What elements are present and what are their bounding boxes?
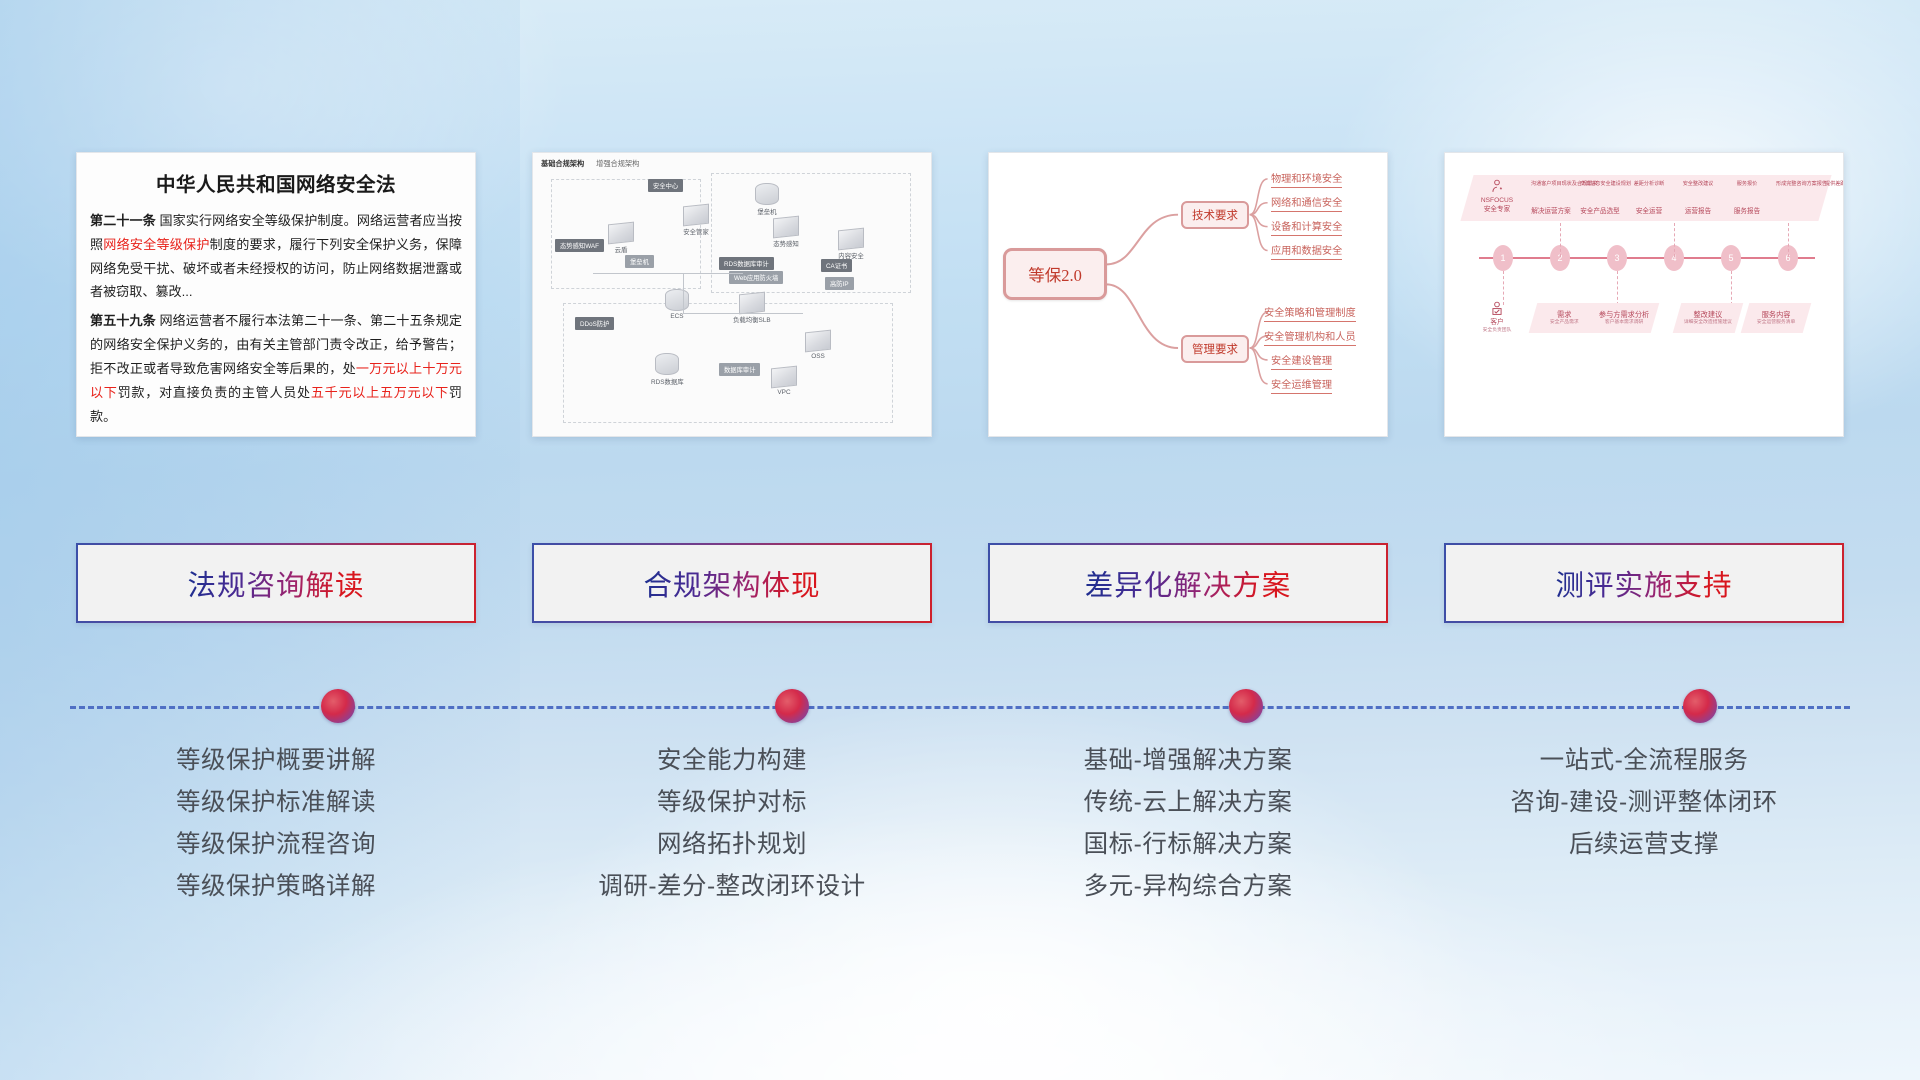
customer-icon [1490, 301, 1504, 315]
timeline-bottom-tag: 参与方需求分析客户基本需求调研 [1589, 303, 1660, 333]
timeline-bottom-tag-sub: 安全运营服务清单 [1757, 320, 1795, 327]
timeline-step-number: 1 [1493, 245, 1513, 271]
timeline-bottom-tag-label: 参与方需求分析客户基本需求调研 [1599, 310, 1649, 327]
axis-dot-0 [321, 689, 355, 723]
detail-list-item: 等级保护流程咨询 [76, 824, 476, 866]
detail-list-0: 等级保护概要讲解等级保护标准解读等级保护流程咨询等级保护策略详解 [76, 740, 476, 909]
timeline-dashed-connector [1617, 271, 1618, 305]
card-service-timeline[interactable]: NSFOCUS 安全专家 沟通客户项目现状及合规需求交流信息安全建设规划差距分析… [1444, 152, 1844, 437]
timeline-customer-label: 客户 [1469, 319, 1525, 328]
architecture-tab-inactive[interactable]: 增强合规架构 [596, 159, 639, 169]
timeline-bottom-tag-label: 整改建议详细安全改造措施建议 [1684, 310, 1732, 327]
detail-list-item: 等级保护标准解读 [76, 782, 476, 824]
thumbnail-card-row: 中华人民共和国网络安全法 第二十一条 国家实行网络安全等级保护制度。网络运营者应… [76, 152, 1844, 437]
architecture-pill: CA证书 [821, 259, 852, 272]
timeline-bottom-tag-sub: 安全产品需求 [1550, 320, 1579, 327]
axis-dot-1 [775, 689, 809, 723]
timeline-deliverable-label: 运营报告 [1678, 205, 1718, 215]
detail-list-row: 等级保护概要讲解等级保护标准解读等级保护流程咨询等级保护策略详解 安全能力构建等… [76, 740, 1844, 909]
header-box-0[interactable]: 法规咨询解读 [76, 543, 476, 623]
architecture-pill: 数据库审计 [719, 363, 760, 376]
server-icon [805, 330, 831, 353]
timeline-dashed-connector [1560, 223, 1561, 257]
architecture-tabs: 基础合规架构 增强合规架构 [541, 159, 639, 169]
architecture-node: ECS [665, 289, 689, 320]
mindmap-root-node: 等保2.0 [1003, 248, 1107, 300]
architecture-node-label: 堡垒机 [757, 207, 776, 216]
law-article-59-text-b: 罚款，对直接负责的主管人员处 [118, 385, 311, 400]
law-article-21-highlight: 网络安全等级保护 [103, 237, 209, 252]
timeline-bottom-tag: 服务内容安全运营服务清单 [1741, 303, 1812, 333]
detail-list-item: 等级保护概要讲解 [76, 740, 476, 782]
architecture-node: 负载均衡SLB [733, 293, 771, 324]
timeline-persona-name: NSFOCUS [1469, 197, 1525, 206]
architecture-connector-3 [683, 313, 803, 314]
architecture-node-label: RDS数据库 [651, 377, 684, 386]
card-mindmap[interactable]: 等保2.0 技术要求 管理要求 物理和环境安全 网络和通信安全 设备和计算安全 … [988, 152, 1388, 437]
header-label-2: 差异化解决方案 [1085, 563, 1292, 604]
timeline-bottom-tag-sub: 详细安全改造措施建议 [1684, 320, 1732, 327]
timeline-persona-role: 安全专家 [1469, 206, 1525, 215]
timeline-bottom-tag-label: 服务内容安全运营服务清单 [1757, 310, 1795, 327]
detail-list-item: 安全能力构建 [532, 740, 932, 782]
architecture-node-label: 态势感知 [773, 239, 799, 248]
timeline-bottom-tag: 整改建议详细安全改造措施建议 [1673, 303, 1744, 333]
law-article-21-label: 第二十一条 [90, 213, 156, 228]
timeline-customer-sub: 安全负责团队 [1469, 328, 1525, 334]
header-box-1[interactable]: 合规架构体现 [532, 543, 932, 623]
law-article-59-label: 第五十九条 [90, 313, 156, 328]
architecture-node: 态势感知 [773, 217, 799, 248]
architecture-node: 云盾 [608, 223, 634, 254]
header-label-3: 测评实施支持 [1555, 563, 1732, 604]
person-icon [1490, 179, 1504, 193]
timeline-persona-expert: NSFOCUS 安全专家 [1469, 179, 1525, 215]
timeline-bottom-tag-label: 需求安全产品需求 [1550, 310, 1579, 327]
axis-dot-2 [1229, 689, 1263, 723]
timeline-step-label: 差距分析诊断 [1629, 181, 1669, 188]
detail-list-item: 多元-异构综合方案 [988, 866, 1388, 908]
detail-list-item: 等级保护策略详解 [76, 866, 476, 908]
timeline-deliverable-label: 解决运营方案 [1531, 205, 1571, 215]
architecture-tab-active[interactable]: 基础合规架构 [541, 159, 584, 169]
mindmap-branch-technical: 技术要求 [1181, 201, 1249, 229]
server-icon [683, 204, 709, 227]
card-cybersecurity-law[interactable]: 中华人民共和国网络安全法 第二十一条 国家实行网络安全等级保护制度。网络运营者应… [76, 152, 476, 437]
architecture-pill: 态势感知WAF [555, 239, 604, 252]
detail-list-item: 等级保护对标 [532, 782, 932, 824]
timeline-dashed-connector [1731, 271, 1732, 305]
architecture-pill: RDS数据库审计 [719, 257, 774, 270]
server-icon [608, 222, 634, 245]
section-header-row: 法规咨询解读 合规架构体现 差异化解决方案 测评实施支持 [76, 543, 1844, 623]
mindmap: 等保2.0 技术要求 管理要求 物理和环境安全 网络和通信安全 设备和计算安全 … [989, 153, 1387, 436]
mindmap-leaf-mgmt-4: 安全运维管理 [1271, 376, 1332, 394]
architecture-node: VPC [771, 367, 797, 396]
timeline-step-number: 3 [1607, 245, 1627, 271]
server-icon [838, 228, 864, 251]
timeline-step-labels: 沟通客户项目现状及合规需求交流信息安全建设规划差距分析诊断安全整改建议服务报价形… [1531, 181, 1844, 188]
architecture-node: 安全管家 [683, 205, 709, 236]
server-icon [755, 183, 779, 205]
architecture-pill: 堡垒机 [625, 255, 654, 268]
header-label-0: 法规咨询解读 [187, 563, 364, 604]
header-box-2[interactable]: 差异化解决方案 [988, 543, 1388, 623]
server-icon [655, 353, 679, 375]
mindmap-leaf-tech-4: 应用和数据安全 [1271, 242, 1342, 260]
axis-dot-3 [1683, 689, 1717, 723]
header-label-1: 合规架构体现 [643, 563, 820, 604]
detail-list-item: 国标-行标解决方案 [988, 824, 1388, 866]
server-icon [773, 216, 799, 239]
law-article-59: 第五十九条 网络运营者不履行本法第二十一条、第二十五条规定的网络安全保护义务的，… [90, 309, 462, 428]
detail-list-item: 一站式-全流程服务 [1444, 740, 1844, 782]
law-article-59-highlight-2: 五千元以上五万元以下 [311, 385, 449, 400]
mindmap-leaf-tech-1: 物理和环境安全 [1271, 170, 1342, 188]
service-timeline: NSFOCUS 安全专家 沟通客户项目现状及合规需求交流信息安全建设规划差距分析… [1445, 153, 1843, 436]
timeline-axis [1479, 257, 1815, 259]
timeline-step-label: 交流信息安全建设规划 [1580, 181, 1620, 188]
architecture-node-label: ECS [670, 313, 683, 320]
architecture-diagram: 基础合规架构 增强合规架构 安全中心 安全管家云盾堡垒机态势感知内容安全ECS负… [533, 153, 931, 436]
architecture-title-chip: 安全中心 [648, 179, 683, 192]
server-icon [739, 292, 765, 315]
detail-list-item: 基础-增强解决方案 [988, 740, 1388, 782]
law-article-21: 第二十一条 国家实行网络安全等级保护制度。网络运营者应当按照网络安全等级保护制度… [90, 209, 462, 304]
architecture-node: 内容安全 [838, 229, 864, 260]
timeline-dashed-connector [1503, 271, 1504, 305]
timeline-deliverable-label: 安全产品选型 [1580, 205, 1620, 215]
detail-list-item: 调研-差分-整改闭环设计 [532, 866, 932, 908]
timeline-dashed-connector [1674, 223, 1675, 257]
detail-list-1: 安全能力构建等级保护对标网络拓扑规划调研-差分-整改闭环设计 [532, 740, 932, 909]
timeline-step-label: 形成完整咨询方案报告 [1776, 181, 1816, 188]
architecture-node-label: 安全管家 [683, 227, 709, 236]
detail-list-item: 后续运营支撑 [1444, 824, 1844, 866]
law-title: 中华人民共和国网络安全法 [77, 168, 475, 197]
architecture-node-label: 云盾 [615, 245, 628, 254]
timeline-step-label: 服务报价 [1727, 181, 1767, 188]
timeline-dashed-connector [1788, 223, 1789, 257]
server-icon [665, 289, 689, 311]
architecture-pill: 高防IP [825, 277, 854, 290]
mindmap-leaf-mgmt-1: 安全策略和管理制度 [1264, 304, 1356, 322]
timeline-step-label: 安全整改建议 [1678, 181, 1718, 188]
timeline-axis-row [70, 684, 1850, 732]
server-icon [771, 366, 797, 389]
architecture-node-label: OSS [811, 353, 825, 360]
architecture-pill: DDoS防护 [575, 317, 614, 330]
header-box-3[interactable]: 测评实施支持 [1444, 543, 1844, 623]
architecture-connector-1 [593, 273, 743, 274]
detail-list-item: 传统-云上解决方案 [988, 782, 1388, 824]
architecture-node: OSS [805, 331, 831, 360]
timeline-step-label: 沟通客户项目现状及合规需求 [1531, 181, 1571, 188]
architecture-node-label: 负载均衡SLB [733, 315, 771, 324]
timeline-deliverable-labels: 解决运营方案安全产品选型安全运营运营报告服务报告 [1531, 205, 1767, 215]
timeline-step-label: 提供差距分析及整改建议报告 [1825, 181, 1844, 188]
detail-list-3: 一站式-全流程服务咨询-建设-测评整体闭环后续运营支撑 [1444, 740, 1844, 909]
detail-list-item: 网络拓扑规划 [532, 824, 932, 866]
mindmap-leaf-mgmt-3: 安全建设管理 [1271, 352, 1332, 370]
timeline-bottom-tag-sub: 客户基本需求调研 [1599, 320, 1649, 327]
card-compliance-architecture[interactable]: 基础合规架构 增强合规架构 安全中心 安全管家云盾堡垒机态势感知内容安全ECS负… [532, 152, 932, 437]
law-body: 第二十一条 国家实行网络安全等级保护制度。网络运营者应当按照网络安全等级保护制度… [77, 197, 475, 428]
architecture-node: RDS数据库 [651, 353, 684, 386]
mindmap-leaf-tech-3: 设备和计算安全 [1271, 218, 1342, 236]
architecture-connector-2 [683, 273, 684, 313]
mindmap-branch-management: 管理要求 [1181, 335, 1249, 363]
architecture-node: 堡垒机 [755, 183, 779, 216]
detail-list-2: 基础-增强解决方案传统-云上解决方案国标-行标解决方案多元-异构综合方案 [988, 740, 1388, 909]
timeline-step-number: 5 [1721, 245, 1741, 271]
timeline-persona-customer: 客户 安全负责团队 [1469, 301, 1525, 334]
architecture-node-label: VPC [777, 389, 790, 396]
detail-list-item: 咨询-建设-测评整体闭环 [1444, 782, 1844, 824]
timeline-deliverable-label: 服务报告 [1727, 205, 1767, 215]
mindmap-leaf-mgmt-2: 安全管理机构和人员 [1264, 328, 1356, 346]
mindmap-leaf-tech-2: 网络和通信安全 [1271, 194, 1342, 212]
timeline-deliverable-label: 安全运营 [1629, 205, 1669, 215]
